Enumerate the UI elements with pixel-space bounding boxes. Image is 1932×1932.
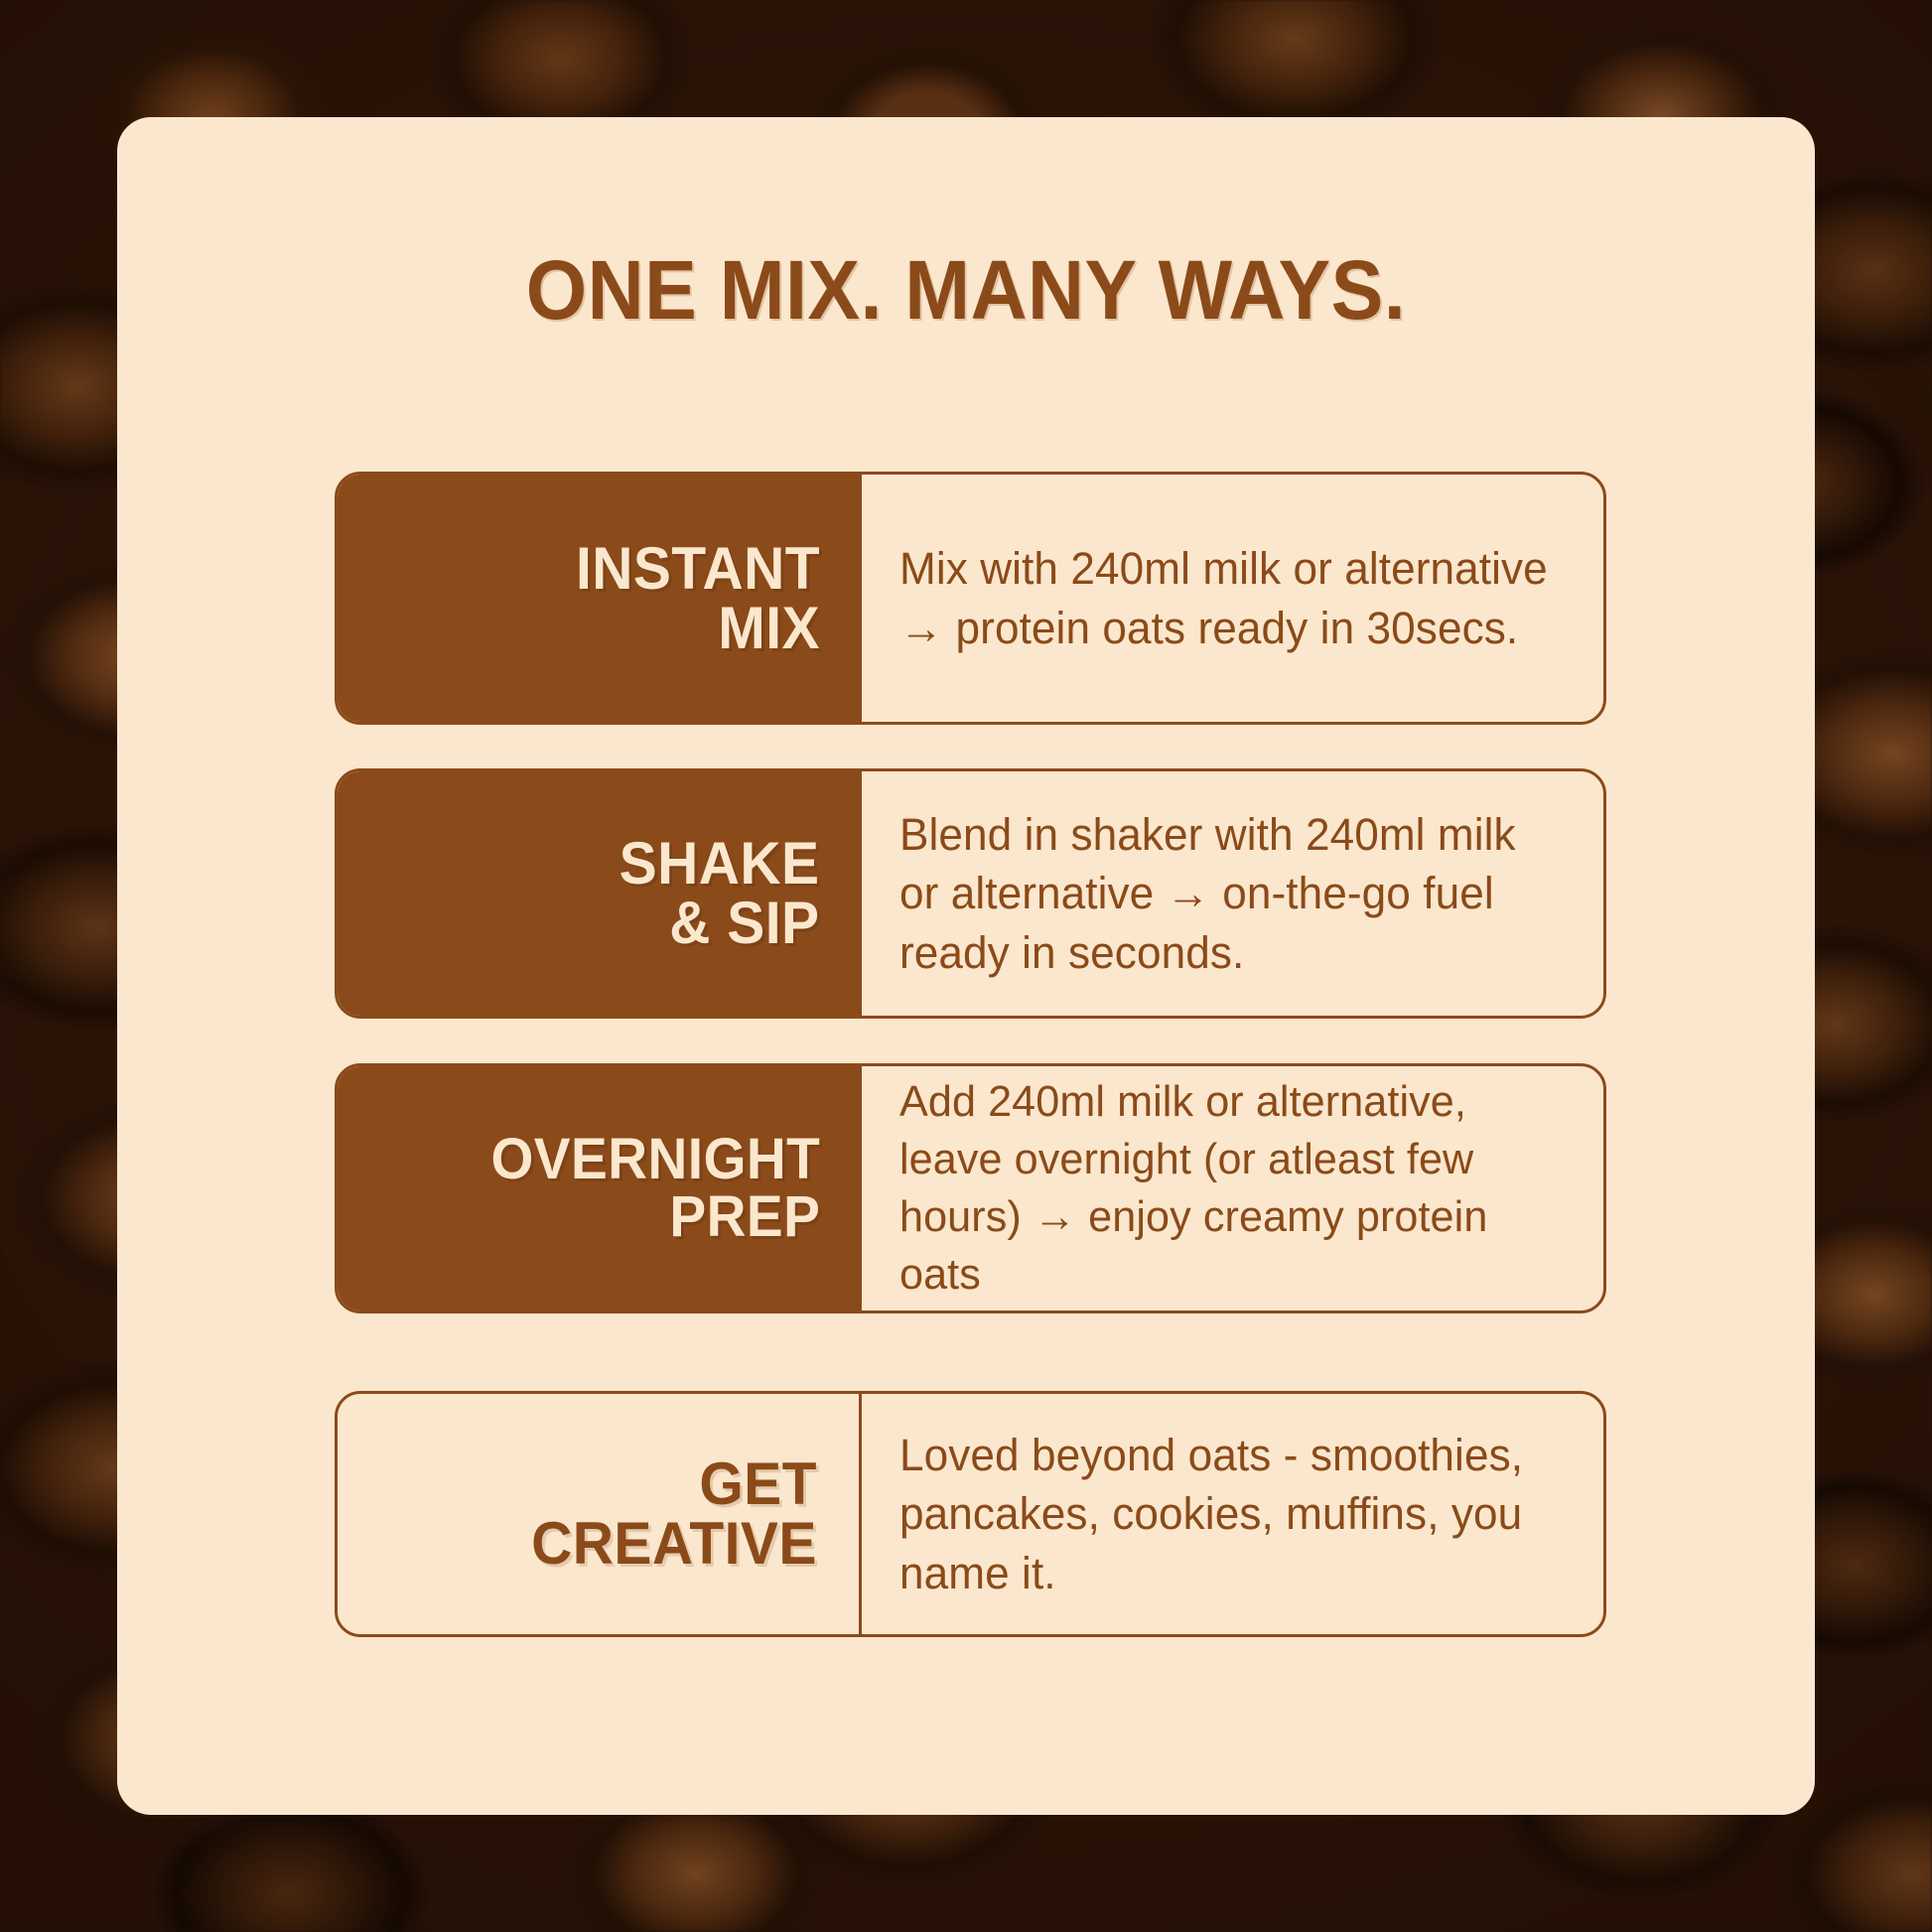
- page-title: ONE MIX. MANY WAYS.: [168, 242, 1763, 339]
- method-label-block: INSTANT MIX: [335, 472, 862, 725]
- list-item-get-creative: GET CREATIVE Loved beyond oats - smoothi…: [335, 1391, 1606, 1637]
- list-item-instant-mix: INSTANT MIX Mix with 240ml milk or alter…: [335, 472, 1606, 725]
- method-description-text: Blend in shaker with 240ml milk or alter…: [899, 805, 1557, 982]
- method-description-text: Loved beyond oats - smoothies, pancakes,…: [899, 1426, 1557, 1602]
- poster-canvas: ONE MIX. MANY WAYS. INSTANT MIX Mix with…: [0, 0, 1932, 1932]
- method-label-text: SHAKE & SIP: [620, 834, 820, 953]
- method-description-text: Mix with 240ml milk or alternative → pro…: [899, 539, 1557, 657]
- method-label-text: OVERNIGHT PREP: [490, 1131, 820, 1246]
- list-item-overnight-prep: OVERNIGHT PREP Add 240ml milk or alterna…: [335, 1063, 1606, 1313]
- method-label-block: SHAKE & SIP: [335, 768, 862, 1019]
- method-description-block: Mix with 240ml milk or alternative → pro…: [862, 475, 1603, 722]
- method-description-block: Loved beyond oats - smoothies, pancakes,…: [862, 1394, 1603, 1634]
- list-item-shake-and-sip: SHAKE & SIP Blend in shaker with 240ml m…: [335, 768, 1606, 1019]
- method-description-block: Blend in shaker with 240ml milk or alter…: [862, 771, 1603, 1016]
- method-label-block: OVERNIGHT PREP: [335, 1063, 862, 1313]
- method-description-text: Add 240ml milk or alternative, leave ove…: [899, 1073, 1557, 1304]
- content-card: ONE MIX. MANY WAYS. INSTANT MIX Mix with…: [117, 117, 1815, 1815]
- method-label-text: INSTANT MIX: [576, 539, 820, 658]
- method-label-block: GET CREATIVE: [338, 1394, 862, 1634]
- method-list: INSTANT MIX Mix with 240ml milk or alter…: [335, 472, 1606, 1637]
- method-description-block: Add 240ml milk or alternative, leave ove…: [862, 1066, 1603, 1311]
- method-label-text: GET CREATIVE: [531, 1454, 817, 1574]
